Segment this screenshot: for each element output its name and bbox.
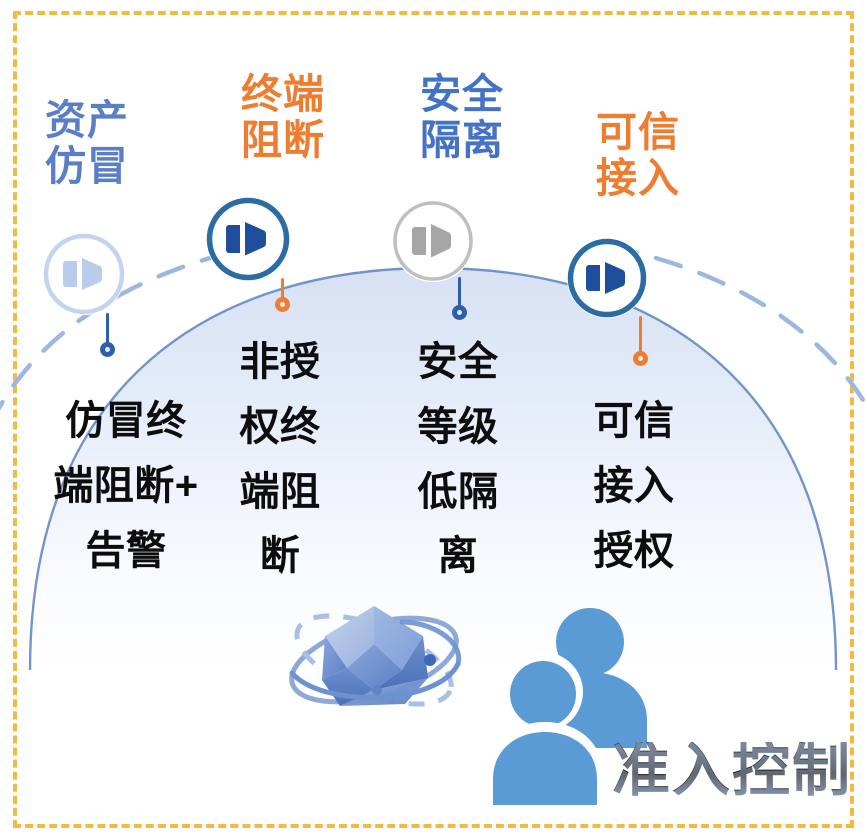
dome-text-unauthorized-terminal-block: 非授 权终 端阻 断 <box>224 330 336 589</box>
dome-text-trusted-access-authorization: 可信 接入 授权 <box>578 389 690 583</box>
signal-broadcast-icon[interactable] <box>392 200 474 282</box>
signal-broadcast-icon-glyph <box>206 197 290 281</box>
signal-broadcast-icon-glyph <box>43 233 125 315</box>
blue-polyhedron-network-icon <box>262 578 486 738</box>
slide-canvas: 资产 仿冒 终端 阻断 安全 隔离 <box>0 0 867 840</box>
signal-broadcast-icon-glyph <box>567 238 647 318</box>
pillar-label-security-isolation: 安全 隔离 <box>399 72 525 164</box>
pillar-label-terminal-block: 终端 阻断 <box>220 72 346 164</box>
signal-broadcast-icon[interactable] <box>206 197 290 281</box>
dome-text-low-security-isolation: 安全 等级 低隔 离 <box>402 330 514 589</box>
bottom-title-access-control: 准入控制 <box>612 742 852 800</box>
signal-broadcast-icon[interactable] <box>43 233 125 315</box>
dome-text-spoofed-terminal-block: 仿冒终 端阻断+ 告警 <box>36 389 216 583</box>
signal-broadcast-icon[interactable] <box>567 238 647 318</box>
pillar-label-trusted-access: 可信 接入 <box>575 110 701 202</box>
pillar-label-asset-spoofing: 资产 仿冒 <box>24 98 150 190</box>
signal-broadcast-icon-glyph <box>392 200 474 282</box>
